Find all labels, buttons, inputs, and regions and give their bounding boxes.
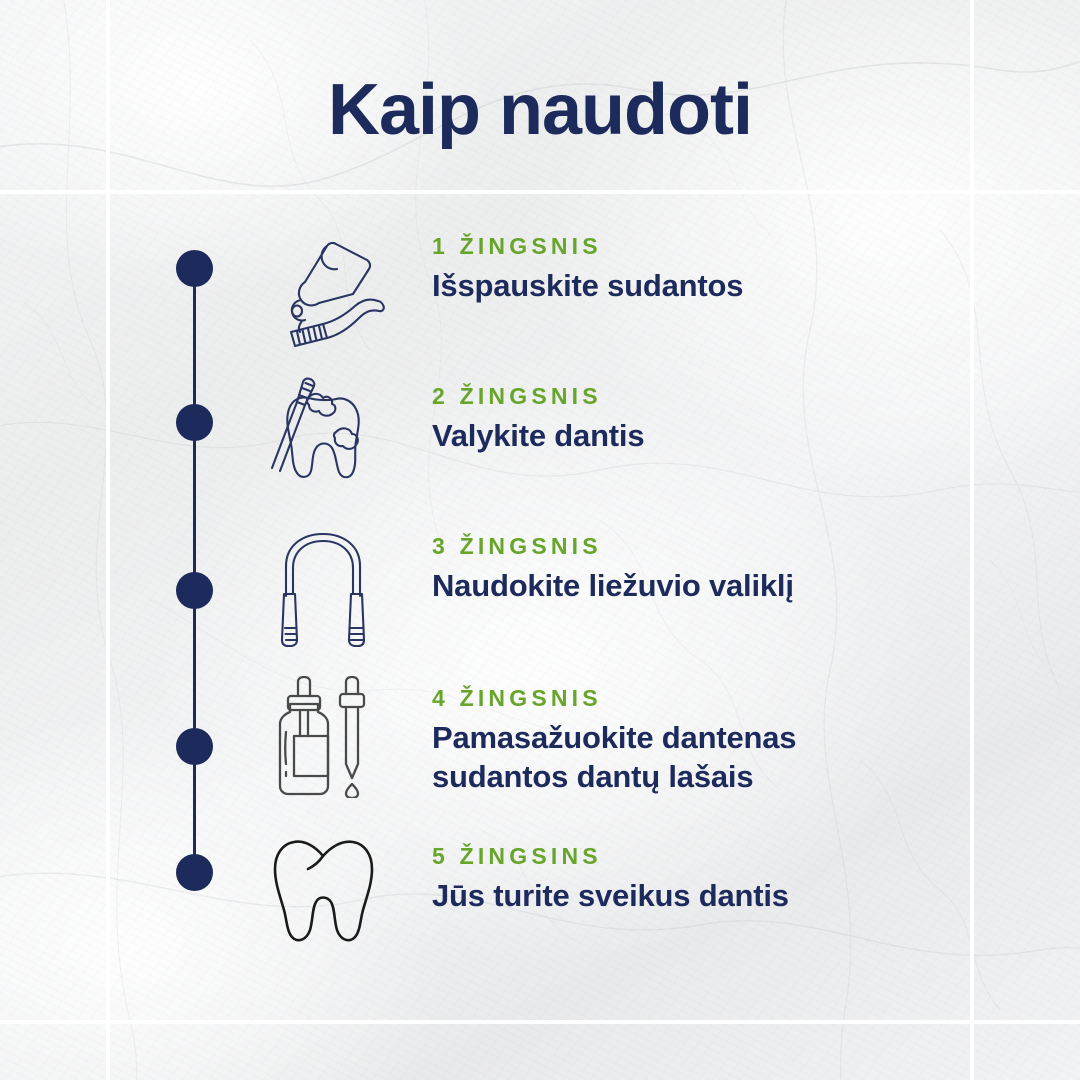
tooth-outline-icon [258, 838, 388, 943]
step-text-5: 5 ŽINGSINS Jūs turite sveikus dantis [432, 844, 1032, 915]
step-description-1: Išspauskite sudantos [432, 266, 1032, 305]
step-description-4-line-2: sudantos dantų lašais [432, 757, 1032, 796]
step-description-3: Naudokite liežuvio valiklį [432, 566, 1032, 605]
timeline-dot-2 [176, 404, 213, 441]
step-label-2: 2 ŽINGSNIS [432, 384, 1032, 409]
page-title: Kaip naudoti [0, 74, 1080, 146]
step-text-4: 4 ŽINGSNIS Pamasažuokite dantenas sudant… [432, 686, 1032, 796]
dropper-bottle-and-pipette-icon [258, 676, 388, 798]
timeline-dot-4 [176, 728, 213, 765]
step-description-4: Pamasažuokite dantenas sudantos dantų la… [432, 718, 1032, 796]
toothpaste-tube-and-toothbrush-icon [258, 228, 388, 353]
timeline-dot-1 [176, 250, 213, 287]
timeline-connector-line [193, 268, 196, 872]
tongue-scraper-icon [258, 528, 388, 650]
step-text-1: 1 ŽINGSNIS Išspauskite sudantos [432, 234, 1032, 305]
step-description-2: Valykite dantis [432, 416, 1032, 455]
timeline-dot-3 [176, 572, 213, 609]
infographic-poster: Kaip naudoti [0, 0, 1080, 1080]
timeline-dot-5 [176, 854, 213, 891]
step-text-2: 2 ŽINGSNIS Valykite dantis [432, 384, 1032, 455]
step-description-4-line-1: Pamasažuokite dantenas [432, 718, 1032, 757]
step-label-5: 5 ŽINGSINS [432, 844, 1032, 869]
grid-line-horizontal-top [0, 190, 1080, 194]
step-description-5: Jūs turite sveikus dantis [432, 876, 1032, 915]
tooth-being-brushed-icon [258, 372, 388, 490]
grid-line-vertical-left [106, 0, 110, 1080]
grid-line-horizontal-bottom [0, 1020, 1080, 1024]
step-text-3: 3 ŽINGSNIS Naudokite liežuvio valiklį [432, 534, 1032, 605]
step-label-3: 3 ŽINGSNIS [432, 534, 1032, 559]
step-label-1: 1 ŽINGSNIS [432, 234, 1032, 259]
step-label-4: 4 ŽINGSNIS [432, 686, 1032, 711]
